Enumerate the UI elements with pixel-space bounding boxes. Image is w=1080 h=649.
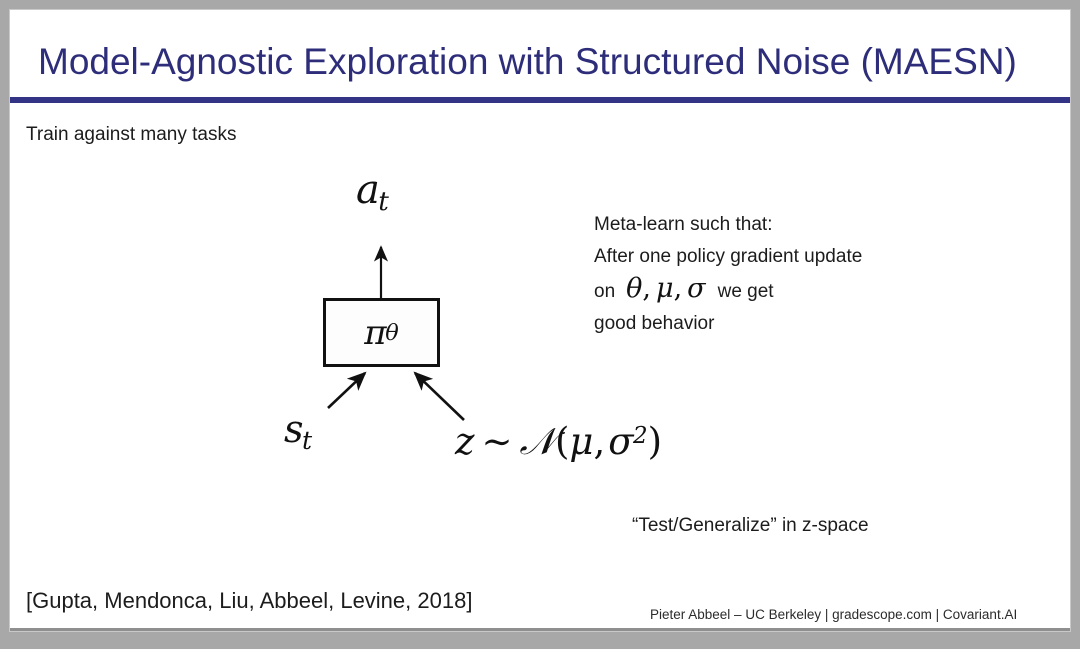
meta-note-line-3: onθ,μ,σwe get (594, 273, 862, 308)
meta-note-prefix: on (594, 281, 615, 302)
latent-comma: , (593, 420, 608, 463)
latent-std-symbol: σ (608, 420, 633, 463)
state-subscript: t (302, 426, 312, 455)
meta-sigma-symbol: σ (687, 273, 705, 304)
latent-close-paren: ) (648, 420, 662, 463)
meta-learning-note: Meta-learn such that: After one policy g… (594, 209, 862, 340)
action-label: at (356, 170, 389, 216)
meta-note-line-1: Meta-learn such that: (594, 209, 862, 241)
policy-label: πθ (326, 301, 437, 364)
policy-symbol: π (364, 313, 386, 353)
arrow-latent-to-policy (415, 373, 464, 420)
latent-variable: z (455, 420, 475, 463)
meta-note-line-4: good behavior (594, 308, 862, 340)
paper-citation: [Gupta, Mendonca, Liu, Abbeel, Levine, 2… (26, 588, 472, 614)
tilde-operator: ∼ (475, 420, 520, 463)
state-symbol: s (284, 407, 304, 451)
action-subscript: t (378, 186, 389, 217)
meta-note-line-2: After one policy gradient update (594, 241, 862, 273)
meta-comma-2: , (674, 273, 688, 304)
slide-canvas: Model-Agnostic Exploration with Structur… (9, 9, 1071, 632)
state-label: st (284, 410, 312, 453)
action-symbol: a (356, 167, 380, 213)
footer-credit: Pieter Abbeel – UC Berkeley | gradescope… (650, 607, 1017, 622)
slide-subtitle: Train against many tasks (26, 124, 237, 146)
latent-open-paren: ( (555, 420, 569, 463)
latent-exponent: 2 (633, 423, 648, 449)
slide-title-block: Model-Agnostic Exploration with Structur… (10, 10, 1070, 98)
policy-box: πθ (323, 298, 440, 367)
policy-subscript: θ (385, 320, 399, 346)
title-divider (10, 97, 1070, 103)
meta-theta-symbol: θ (615, 273, 642, 304)
latent-mean-symbol: μ (569, 420, 593, 463)
slide-bottom-edge (10, 628, 1070, 631)
latent-distribution-label: z∼𝒩(μ,σ2) (455, 423, 662, 460)
normal-distribution-symbol: 𝒩 (520, 420, 555, 463)
page-title: Model-Agnostic Exploration with Structur… (38, 40, 1017, 84)
arrow-state-to-policy (328, 373, 365, 408)
meta-mu-symbol: μ (656, 273, 674, 304)
test-generalize-note: “Test/Generalize” in z-space (632, 515, 869, 537)
meta-comma-1: , (642, 273, 656, 304)
meta-note-suffix: we get (706, 281, 774, 302)
